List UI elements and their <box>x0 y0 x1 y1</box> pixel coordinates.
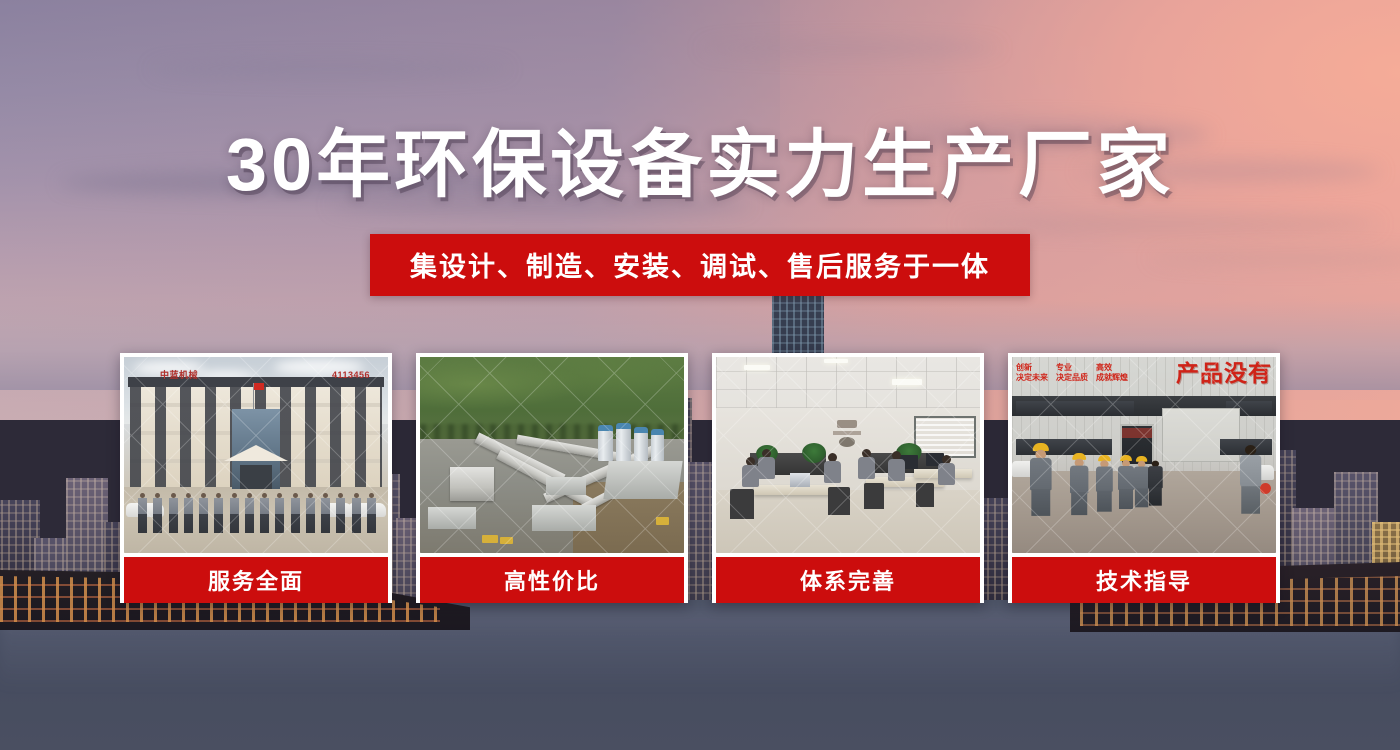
cloud <box>700 40 1000 56</box>
card-caption: 技术指导 <box>1012 557 1276 603</box>
subtitle-banner: 集设计、制造、安装、调试、售后服务于一体 <box>0 234 1400 296</box>
page-title: 30年环保设备实力生产厂家 <box>0 128 1400 202</box>
slogan-3-sub: 成就辉煌 <box>1096 373 1128 383</box>
feature-card-row: 中蓝机械 4113456 服务全面 <box>120 353 1280 603</box>
slogan-2: 专业 <box>1056 363 1088 373</box>
wall-decal <box>827 420 867 450</box>
slogan-3: 高效 <box>1096 363 1128 373</box>
office-building-staff-photo: 中蓝机械 4113456 <box>124 357 388 553</box>
cloud <box>960 215 1380 233</box>
subtitle-text: 集设计、制造、安装、调试、售后服务于一体 <box>370 234 1030 296</box>
staff-group <box>138 493 376 533</box>
phone-number-text: 4113456 <box>332 370 370 380</box>
company-name-text: 中蓝机械 <box>160 368 198 381</box>
aerial-industrial-plant-photo <box>420 357 684 553</box>
card-caption: 高性价比 <box>420 557 684 603</box>
building-company-sign: 中蓝机械 <box>160 369 260 380</box>
workers-factory-training-photo: 产品没有 创新 决定未来 专业 决定品质 高效 成就辉煌 <box>1012 357 1276 553</box>
feature-card[interactable]: 中蓝机械 4113456 服务全面 <box>120 353 392 603</box>
factory-wall-headline: 产品没有 <box>1176 358 1272 384</box>
slogan-2-sub: 决定品质 <box>1056 373 1088 383</box>
banner-stage: 30年环保设备实力生产厂家 集设计、制造、安装、调试、售后服务于一体 <box>0 0 1400 750</box>
feature-card[interactable]: 产品没有 创新 决定未来 专业 决定品质 高效 成就辉煌 <box>1008 353 1280 603</box>
office-interior-staff-photo <box>716 357 980 553</box>
factory-wall-slogans: 创新 决定未来 专业 决定品质 高效 成就辉煌 <box>1016 363 1142 389</box>
card-caption: 体系完善 <box>716 557 980 603</box>
card-caption: 服务全面 <box>124 557 388 603</box>
building-phone-sign: 4113456 <box>278 369 370 380</box>
slogan-1: 创新 <box>1016 363 1048 373</box>
slogan-1-sub: 决定未来 <box>1016 373 1048 383</box>
cloud <box>150 60 510 78</box>
feature-card[interactable]: 体系完善 <box>712 353 984 603</box>
factory-wall-headline-text: 产品没有 <box>1176 357 1272 388</box>
feature-card[interactable]: 高性价比 <box>416 353 688 603</box>
